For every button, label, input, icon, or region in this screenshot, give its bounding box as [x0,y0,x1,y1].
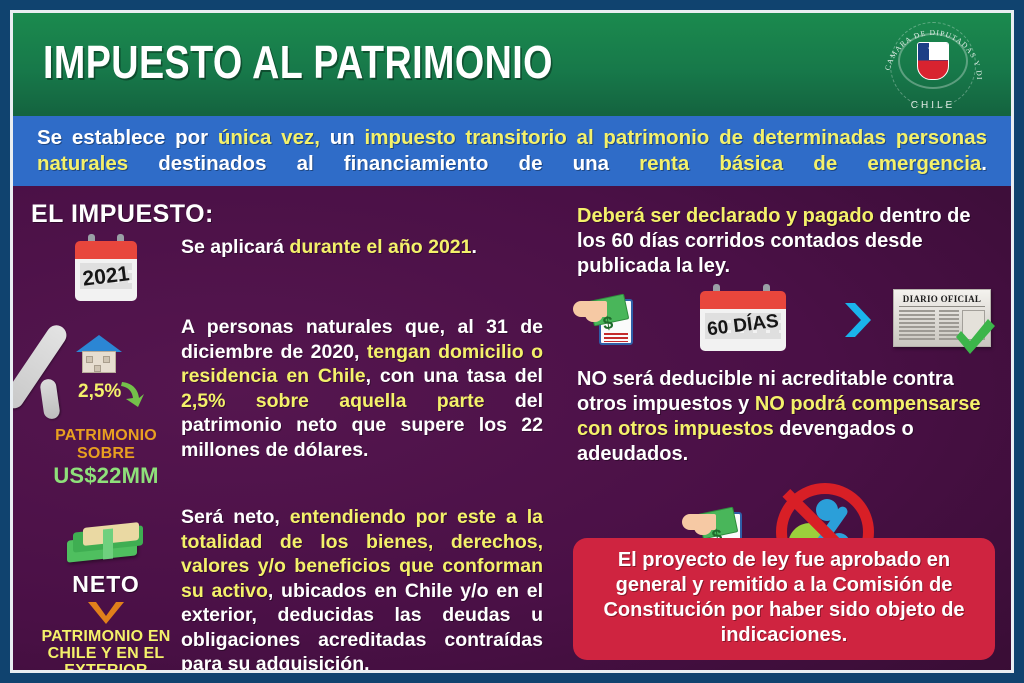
green-check-icon [953,317,997,357]
banner-seg-2: única vez, [218,126,320,149]
chile-map-house-icon: 2,5% [36,319,176,429]
neto-seg-1: Será neto, [181,506,290,528]
infographic-poster: IMPUESTO AL PATRIMONIO CAMARA DE DIPUTAD… [0,0,1024,683]
hand-money-document-icon: $ [577,289,651,351]
newspaper-title: DIARIO OFICIAL [899,294,985,304]
poster-header: IMPUESTO AL PATRIMONIO CAMARA DE DIPUTAD… [13,13,1011,116]
chile-map-icon-cell: 2,5% PATRIMONIO SOBRE US$22MM [31,315,181,489]
newspaper-column [899,310,935,342]
list-item-residency: 2,5% PATRIMONIO SOBRE US$22MM A personas… [31,315,543,489]
house-icon [76,335,122,373]
house-window [103,356,110,363]
money-stack-icon [63,523,149,567]
right-column: Deberá ser declarado y pagado dentro de … [559,186,1011,670]
banner-seg-6: renta básica de emergencia [639,152,981,175]
chamber-of-deputies-logo-icon: CAMARA DE DIPUTADAS Y DIPUTADOS ★ CHILE [877,21,989,113]
money-icon-cell: NETO PATRIMONIO EN CHILE Y EN EL EXTERIO… [31,505,181,673]
year-seg-2: durante el año 2021 [289,236,471,258]
decl-seg-1: Deberá ser declarado y pagado [577,205,874,227]
list-item-year: 2021 Se aplicará durante el año 2021. [31,235,543,301]
status-banner: El proyecto de ley fue aprobado en gener… [573,538,995,660]
page-title: IMPUESTO AL PATRIMONIO [43,35,553,89]
down-arrow-icon [86,600,126,626]
year-seg-1: Se aplicará [181,236,289,258]
map-rate-label: 2,5% [78,381,121,403]
declaration-icon-strip: $ 60 DÍAS DIARIO OFICIAL [577,289,991,351]
calendar-top [700,291,786,309]
chile-map-strip [10,321,70,412]
banner-seg-7: . [981,152,987,175]
newspaper-rule [899,306,985,307]
neto-caption: PATRIMONIO EN CHILE Y EN EL EXTERIOR [31,628,181,673]
house-window [86,356,93,363]
map-caption-amount: US$22MM [31,463,181,489]
chevron-right-icon [835,297,881,343]
list-item-neto: NETO PATRIMONIO EN CHILE Y EN EL EXTERIO… [31,505,543,673]
banner-seg-1: Se establece por [37,126,218,149]
list-item-year-text: Se aplicará durante el año 2021. [181,235,543,260]
banner-seg-3: un [320,126,365,149]
section-label-impuesto: EL IMPUESTO: [31,200,543,229]
status-banner-text: El proyecto de ley fue aprobado en gener… [589,548,979,648]
res-seg-3: , con una tasa del [366,365,543,387]
house-roof [76,335,122,352]
calendar-top [75,241,137,259]
logo-country-label: CHILE [877,100,989,111]
money-band [103,528,113,559]
calendar-60-dias-icon: 60 DÍAS [700,289,786,351]
banner-seg-5: destinados al financiamiento de una [128,152,639,175]
non-deductible-text: NO será deducible ni acreditable contra … [577,367,991,467]
calendar-icon-cell: 2021 [31,235,181,301]
poster-body: EL IMPUESTO: 2021 Se aplicará durante el… [13,186,1011,670]
document-lines [604,333,628,342]
poster-frame: IMPUESTO AL PATRIMONIO CAMARA DE DIPUTAD… [10,10,1014,673]
intro-banner: Se establece por única vez, un impuesto … [13,116,1011,186]
declaration-text: Deberá ser declarado y pagado dentro de … [577,204,991,279]
shield-star-icon: ★ [927,42,940,56]
res-seg-4: 2,5% sobre aquella parte [181,390,484,412]
house-door [94,365,101,372]
list-item-neto-text: Será neto, entendiendo por este a la tot… [181,505,543,673]
intro-banner-text: Se establece por única vez, un impuesto … [37,125,987,177]
calendar-2021-icon: 2021 [75,239,137,301]
map-caption-patrimonio: PATRIMONIO SOBRE [31,427,181,463]
chile-map-strip-lower [39,378,60,420]
list-item-residency-text: A personas naturales que, al 31 de dicie… [181,315,543,462]
neto-label: NETO [31,571,181,598]
left-column: EL IMPUESTO: 2021 Se aplicará durante el… [13,186,559,670]
green-arrow-icon [120,379,146,409]
newspaper-diario-oficial-icon: DIARIO OFICIAL [893,289,991,351]
year-seg-3: . [471,236,476,258]
